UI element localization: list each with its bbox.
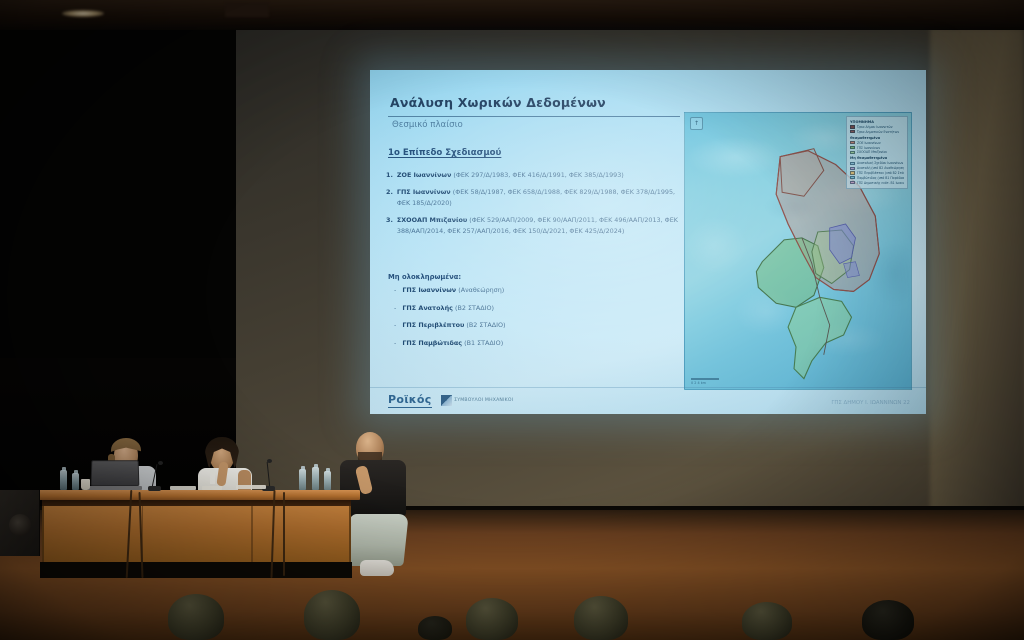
legend-swatch bbox=[850, 176, 855, 179]
legend-row: ΓΠΣ Δημοτικής ενότ. Β1 Ιωαννίνων bbox=[850, 181, 904, 185]
list-item-index: 1. bbox=[386, 170, 393, 180]
bullet-item: - ΓΠΣ Παμβώτιδας (Β1 ΣΤΑΔΙΟ) bbox=[394, 339, 644, 348]
list-item-name: ΓΠΣ Ιωαννίνων bbox=[397, 188, 451, 196]
legend-row: ΓΠΣ Ιωαννίνων bbox=[850, 146, 904, 150]
list-item-body: ΖΟΕ Ιωαννίνων (ΦΕΚ 297/Δ/1983, ΦΕΚ 416/Δ… bbox=[397, 170, 686, 180]
slide-section-heading: 1ο Επίπεδο Σχεδιασμού bbox=[388, 148, 501, 158]
ceiling-light-icon bbox=[62, 10, 104, 17]
water-bottle[interactable] bbox=[60, 470, 67, 490]
microphone-head-icon bbox=[267, 459, 272, 463]
bullet-dash-icon: - bbox=[394, 304, 396, 312]
numbered-list: 1. ΖΟΕ Ιωαννίνων (ΦΕΚ 297/Δ/1983, ΦΕΚ 41… bbox=[386, 170, 686, 243]
papers-on-table bbox=[236, 485, 266, 489]
legend-swatch bbox=[850, 151, 855, 154]
legend-row: ΣΧΟΟΑΠ Μπιζανίου bbox=[850, 150, 904, 154]
secondary-logo: ΣΥΜΒΟΥΛΟΙ ΜΗΧΑΝΙΚΟΙ bbox=[441, 395, 514, 406]
table-top-surface bbox=[38, 490, 360, 500]
list-item-name: ΖΟΕ Ιωαννίνων bbox=[397, 171, 451, 179]
bullet-item-status: (Β2 ΣΤΑΔΙΟ) bbox=[455, 304, 494, 312]
bullet-item-status: (Β2 ΣΤΑΔΙΟ) bbox=[466, 321, 505, 329]
legend-row: ΖΟΕ Ιωαννίνων bbox=[850, 141, 904, 145]
audience-head bbox=[304, 590, 360, 640]
water-bottle[interactable] bbox=[324, 471, 331, 490]
legend-swatch bbox=[850, 125, 855, 128]
map-legend: ΥΠΟΜΝΗΜΑ Όρια Δήμου Ιωαννιτών Όρια Δημοτ… bbox=[846, 116, 908, 189]
legend-label: ΣΧΟΟΑΠ Μπιζανίου bbox=[857, 150, 887, 154]
logo-text: Ροϊκός bbox=[388, 393, 432, 408]
legend-label: Παμβώτιδας (υπό Β1 Παράδοση) bbox=[857, 176, 904, 180]
legend-swatch bbox=[850, 130, 855, 133]
list-item-body: ΣΧΟΟΑΠ Μπιζανίου (ΦΕΚ 529/ΑΑΠ/2009, ΦΕΚ … bbox=[397, 215, 686, 236]
list-item-index: 2. bbox=[386, 187, 393, 208]
slide-sub-heading: Μη ολοκληρωμένα: bbox=[388, 273, 461, 281]
bullet-item: - ΓΠΣ Ιωαννίνων (Αναθεώρηση) bbox=[394, 286, 644, 295]
side-wall-right bbox=[930, 28, 1024, 588]
map-scale-bar: 0 2 4 km bbox=[691, 378, 719, 385]
table-front-panel bbox=[42, 506, 351, 562]
audience-head bbox=[168, 594, 224, 640]
legend-label: Ανατολική Σχεδίου Ιωαννίνων bbox=[857, 161, 903, 165]
legend-label: ΓΠΣ Περιβλέπτου (υπό Β2 Στάδιο) bbox=[857, 171, 904, 175]
speaker-cone-icon bbox=[9, 514, 31, 536]
legend-swatch bbox=[850, 146, 855, 149]
secondary-logo-text: ΣΥΜΒΟΥΛΟΙ ΜΗΧΑΝΙΚΟΙ bbox=[454, 398, 513, 403]
legend-label: Όρια Δήμου Ιωαννιτών bbox=[857, 125, 893, 129]
water-bottle[interactable] bbox=[72, 473, 79, 490]
microphone-head-icon bbox=[158, 461, 163, 465]
title-divider bbox=[388, 116, 680, 117]
slide-subtitle: Θεσμικό πλαίσιο bbox=[392, 120, 672, 130]
legend-title: ΥΠΟΜΝΗΜΑ bbox=[850, 120, 904, 124]
legend-swatch bbox=[850, 162, 855, 165]
legend-label: Ανατολή (υπό Β2 Αναθεώρηση) bbox=[857, 166, 904, 170]
list-item: 3. ΣΧΟΟΑΠ Μπιζανίου (ΦΕΚ 529/ΑΑΠ/2009, Φ… bbox=[386, 215, 686, 236]
bullet-item-name: ΓΠΣ Περιβλέπτου bbox=[402, 321, 464, 329]
audience-head bbox=[466, 598, 518, 640]
list-item-refs: (ΦΕΚ 297/Δ/1983, ΦΕΚ 416/Δ/1991, ΦΕΚ 385… bbox=[453, 171, 623, 179]
slide-page-note: ΓΠΣ ΔΗΜΟΥ Ι. ΙΩΑΝΝΙΝΩΝ 22 bbox=[831, 400, 910, 406]
slide-title: Ανάλυση Χωρικών Δεδομένων bbox=[390, 95, 690, 110]
bullet-list: - ΓΠΣ Ιωαννίνων (Αναθεώρηση) - ΓΠΣ Ανατο… bbox=[394, 286, 644, 357]
map-region-sxooap-bizaniou bbox=[788, 297, 851, 378]
legend-swatch bbox=[850, 181, 855, 184]
legend-swatch bbox=[850, 141, 855, 144]
legend-swatch bbox=[850, 167, 855, 170]
map-figure: ↑ 0 2 4 km ΥΠΟΜΝΗΜΑ Όρια Δήμου Ιωαννιτών… bbox=[684, 112, 912, 390]
cable bbox=[283, 492, 285, 576]
laptop[interactable] bbox=[88, 460, 142, 490]
legend-group-heading: Μη Θεσμοθετημένα bbox=[850, 156, 904, 160]
scale-bar-line bbox=[691, 378, 719, 380]
bullet-item-name: ΓΠΣ Παμβώτιδας bbox=[402, 339, 462, 347]
water-bottle[interactable] bbox=[299, 469, 306, 490]
bullet-item-name: ΓΠΣ Ανατολής bbox=[402, 304, 453, 312]
audience-head bbox=[418, 616, 452, 640]
ceiling-vent bbox=[225, 3, 269, 17]
legend-swatch bbox=[850, 171, 855, 174]
bullet-item-status: (Β1 ΣΤΑΔΙΟ) bbox=[464, 339, 503, 347]
slide-logo: Ροϊκός ΣΥΜΒΟΥΛΟΙ ΜΗΧΑΝΙΚΟΙ bbox=[388, 393, 513, 408]
dark-wall-panel bbox=[0, 28, 236, 358]
laptop-keyboard bbox=[88, 486, 142, 490]
paper-cup[interactable] bbox=[81, 479, 90, 490]
audience-head bbox=[574, 596, 628, 640]
audience-head bbox=[862, 600, 914, 640]
audience-head bbox=[742, 602, 792, 640]
auditorium-room: Ανάλυση Χωρικών Δεδομένων Θεσμικό πλαίσι… bbox=[0, 0, 1024, 640]
bullet-item-name: ΓΠΣ Ιωαννίνων bbox=[402, 286, 456, 294]
laptop-screen bbox=[91, 460, 140, 486]
bullet-dash-icon: - bbox=[394, 286, 396, 294]
legend-row: Ανατολική Σχεδίου Ιωαννίνων bbox=[850, 161, 904, 165]
logo-mark-icon bbox=[441, 395, 452, 406]
legend-group-heading: Θεσμοθετημένα bbox=[850, 136, 904, 140]
list-item-name: ΣΧΟΟΑΠ Μπιζανίου bbox=[397, 216, 467, 224]
tank-strap-left bbox=[210, 468, 215, 484]
legend-row: Όρια Δήμου Ιωαννιτών bbox=[850, 125, 904, 129]
scale-bar-label: 0 2 4 km bbox=[691, 381, 719, 385]
list-item-index: 3. bbox=[386, 215, 393, 236]
bullet-item: - ΓΠΣ Περιβλέπτου (Β2 ΣΤΑΔΙΟ) bbox=[394, 321, 644, 330]
legend-label: ΓΠΣ Ιωαννίνων bbox=[857, 146, 880, 150]
north-arrow-icon: ↑ bbox=[690, 117, 703, 130]
bullet-item-status: (Αναθεώρηση) bbox=[458, 286, 504, 294]
shoe bbox=[360, 560, 394, 576]
bullet-item: - ΓΠΣ Ανατολής (Β2 ΣΤΑΔΙΟ) bbox=[394, 304, 644, 313]
legend-label: Όρια Δημοτικών Ενοτήτων bbox=[857, 130, 899, 134]
microphone-base bbox=[148, 486, 161, 491]
legend-row: Παμβώτιδας (υπό Β1 Παράδοση) bbox=[850, 176, 904, 180]
list-item: 2. ΓΠΣ Ιωαννίνων (ΦΕΚ 58/Δ/1987, ΦΕΚ 658… bbox=[386, 187, 686, 208]
list-item-body: ΓΠΣ Ιωαννίνων (ΦΕΚ 58/Δ/1987, ΦΕΚ 658/Δ/… bbox=[397, 187, 686, 208]
bullet-dash-icon: - bbox=[394, 339, 396, 347]
ceiling bbox=[0, 0, 1024, 30]
slide-footer-divider bbox=[370, 387, 926, 388]
list-item: 1. ΖΟΕ Ιωαννίνων (ΦΕΚ 297/Δ/1983, ΦΕΚ 41… bbox=[386, 170, 686, 180]
legend-row: ΓΠΣ Περιβλέπτου (υπό Β2 Στάδιο) bbox=[850, 171, 904, 175]
legend-row: Ανατολή (υπό Β2 Αναθεώρηση) bbox=[850, 166, 904, 170]
table-underside bbox=[40, 562, 352, 578]
papers-on-table bbox=[170, 486, 196, 490]
legend-row: Όρια Δημοτικών Ενοτήτων bbox=[850, 130, 904, 134]
bullet-dash-icon: - bbox=[394, 321, 396, 329]
projection-screen: Ανάλυση Χωρικών Δεδομένων Θεσμικό πλαίσι… bbox=[370, 70, 926, 414]
legend-label: ΖΟΕ Ιωαννίνων bbox=[857, 141, 881, 145]
panel-table bbox=[38, 490, 360, 578]
papers-on-table bbox=[202, 486, 222, 490]
legend-label: ΓΠΣ Δημοτικής ενότ. Β1 Ιωαννίνων bbox=[857, 181, 904, 185]
water-bottle[interactable] bbox=[312, 467, 319, 490]
